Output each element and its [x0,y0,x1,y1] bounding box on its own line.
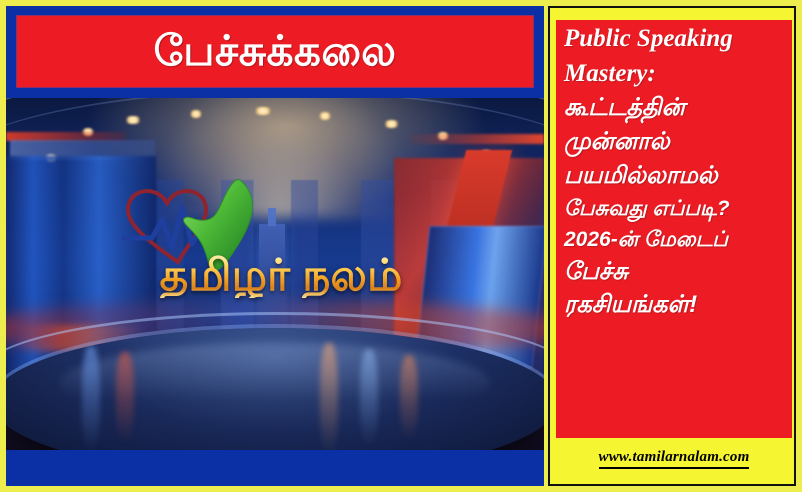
bottom-blue-bar [6,450,544,486]
channel-logo-text: தமிழர் நலம் [116,254,446,298]
stage-reflection [360,349,378,447]
headline-line: பேசுவது எப்படி? [564,198,786,220]
stage-reflection [116,352,134,444]
stage-reflection [82,346,100,450]
studio-spotlight [383,120,400,128]
studio-red-strip-right [409,134,544,144]
studio-image: தமிழர் நலம் [6,98,544,450]
headline-line: Mastery: [564,61,786,87]
studio-spotlight [124,116,142,124]
headline-line: பேச்சு [564,260,786,285]
headline-line: ரகசியங்கள்! [564,293,786,318]
stage-reflection [400,355,418,441]
stage-platform [6,328,544,450]
headline-line: பயமில்லாமல் [564,164,786,189]
left-column: பேச்சுக்கலை [6,6,544,486]
right-column: Public Speaking Mastery: கூட்டத்தின் முன… [548,6,796,486]
page-title: பேச்சுக்கலை [153,29,396,73]
headline-line: முன்னால் [564,130,786,155]
studio-stage [6,294,544,450]
studio-spotlight [189,110,203,118]
studio-spotlight [318,112,332,120]
headline-line: 2026-ன் மேடைப் [564,229,786,251]
website-url[interactable]: www.tamilarnalam.com [599,449,750,469]
headline-line: கூட்டத்தின் [564,96,786,121]
title-banner: பேச்சுக்கலை [6,6,544,98]
headline-line: Public Speaking [564,26,786,52]
poster-root: பேச்சுக்கலை [0,0,802,492]
title-banner-inner: பேச்சுக்கலை [16,15,534,88]
stage-reflection [320,343,338,450]
url-bar: www.tamilarnalam.com [556,440,792,478]
headline-panel: Public Speaking Mastery: கூட்டத்தின் முன… [556,20,792,438]
channel-logo: தமிழர் நலம் [116,178,446,313]
